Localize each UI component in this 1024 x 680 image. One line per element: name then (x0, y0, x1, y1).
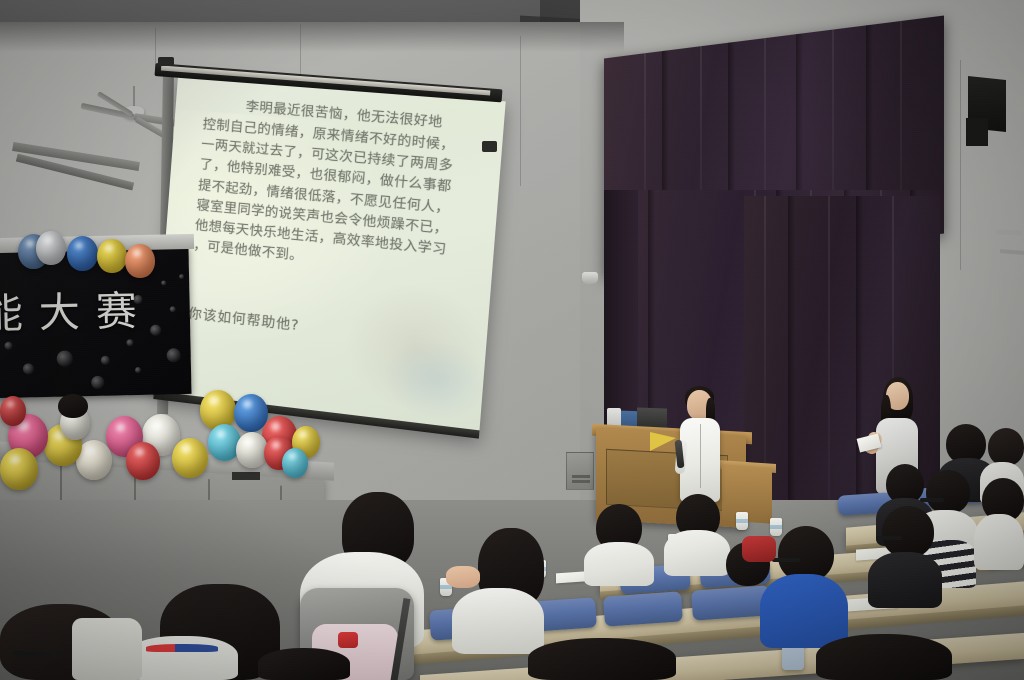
person-head (58, 394, 88, 418)
lectern-plate (232, 472, 260, 480)
eyeglasses-icon (772, 558, 800, 562)
balloon (36, 231, 66, 265)
screen-bracket-left (158, 57, 174, 66)
student-torso (126, 636, 238, 680)
ceiling-fan-rod (133, 86, 135, 108)
slide-text-block: 李明最近很苦恼，他无法很好地 控制自己的情绪，原来情绪不好的时候， 一两天就过去… (193, 94, 488, 284)
balloon (0, 396, 26, 426)
wall-seam (960, 60, 961, 270)
red-bag (742, 536, 776, 562)
student-head (816, 634, 952, 680)
wall-vent-panel (566, 452, 594, 490)
chair-back (603, 591, 683, 626)
balloon (0, 448, 38, 490)
student-head (528, 638, 676, 680)
slide-question: 你该如何帮助他? (188, 302, 301, 334)
speaker-bracket (966, 118, 988, 146)
student-head (988, 428, 1024, 466)
student-torso (584, 542, 654, 586)
student-torso (868, 552, 942, 608)
paper-cup (770, 518, 782, 536)
projection-screen: 李明最近很苦恼，他无法很好地 控制自己的情绪，原来情绪不好的时候， 一两天就过去… (153, 76, 505, 439)
student-blue-shirt (760, 574, 848, 648)
wall-sensor-icon (582, 272, 598, 284)
balloon (125, 244, 155, 278)
backpack-clip-icon (338, 632, 358, 648)
wall-shadow (0, 22, 624, 52)
classroom-photo: 李明最近很苦恼，他无法很好地 控制自己的情绪，原来情绪不好的时候， 一两天就过去… (0, 0, 1024, 680)
eyeglasses-icon (920, 498, 944, 502)
balloon (282, 448, 308, 478)
chair-back (691, 585, 771, 620)
student-head (882, 506, 934, 558)
podium-equipment (637, 407, 667, 428)
shirt-stripe (146, 644, 218, 652)
screen-smudge (379, 333, 493, 426)
presenter-shirt (680, 418, 720, 502)
student-torso (664, 530, 730, 576)
screen-bracket-right (482, 141, 497, 152)
student-head (258, 648, 350, 680)
wall-seam (520, 36, 521, 186)
screen-smudge (340, 276, 490, 418)
balloon (172, 438, 208, 478)
balloon (126, 442, 160, 480)
paper-cup (736, 512, 748, 530)
student-arm (446, 566, 480, 588)
balloon (67, 236, 98, 271)
student-head (926, 470, 970, 514)
white-bag (72, 618, 142, 680)
student-torso (452, 588, 544, 654)
balloon (97, 239, 127, 273)
student-torso (974, 514, 1024, 570)
eyeglasses-icon (876, 536, 902, 540)
banner-text: 能大赛 (0, 277, 153, 341)
balloon (200, 390, 236, 430)
event-banner: 能大赛 (0, 246, 192, 398)
podium-yellow-object (650, 432, 676, 451)
